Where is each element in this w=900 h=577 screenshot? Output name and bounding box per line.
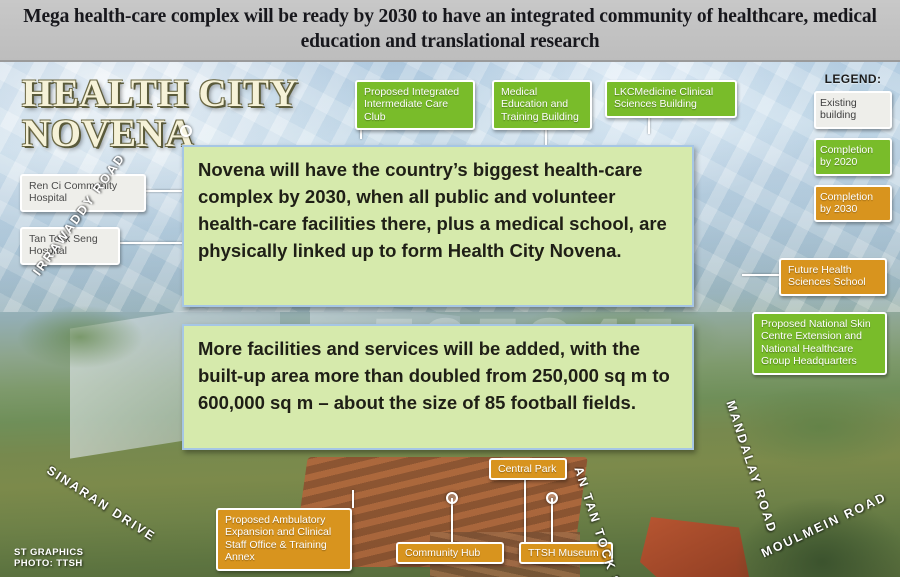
text-block-secondary-text: More facilities and services will be add… (198, 338, 670, 413)
text-block-primary-text: Novena will have the country’s biggest h… (198, 159, 667, 261)
leader-line-tan-tock-seng (118, 242, 188, 244)
road-label-mandalay: MANDALAY ROAD (723, 399, 779, 536)
credit-block: ST GRAPHICS PHOTO: TTSH (14, 547, 83, 569)
text-block-secondary: More facilities and services will be add… (182, 324, 694, 450)
infographic-page: Mega health-care complex will be ready b… (0, 0, 900, 577)
callout-lkc-medicine[interactable]: LKCMedicine Clinical Sciences Building (605, 80, 737, 118)
marker-dot-community-hub (446, 492, 458, 504)
rooftop-red (640, 517, 750, 577)
road-label-moulmein: MOULMEIN ROAD (759, 490, 889, 561)
page-title: HEALTH CITY NOVENA (22, 74, 352, 154)
legend-item-completion-2020[interactable]: Completion by 2020 (814, 138, 892, 176)
legend-title: LEGEND: (814, 72, 892, 86)
callout-medical-education[interactable]: Medical Education and Training Building (492, 80, 592, 130)
legend: LEGEND: Existing building Completion by … (814, 72, 892, 231)
aerial-map: 595845 HEALTH CITY NOVENA Proposed Integ… (0, 62, 900, 577)
marker-dot-intermediate-care (180, 125, 192, 137)
leader-line-ambulatory (352, 490, 354, 508)
callout-community-hub[interactable]: Community Hub (396, 542, 504, 564)
callout-central-park[interactable]: Central Park (489, 458, 567, 480)
headline-bar: Mega health-care complex will be ready b… (0, 0, 900, 62)
leader-line-future-health-school (742, 274, 784, 276)
legend-item-completion-2030[interactable]: Completion by 2030 (814, 185, 892, 223)
road-label-sinaran: SINARAN DRIVE (44, 463, 158, 544)
marker-dot-ttsh-museum (546, 492, 558, 504)
leader-line-central-park (524, 476, 526, 548)
credit-line-graphics: ST GRAPHICS (14, 547, 83, 558)
callout-intermediate-care[interactable]: Proposed Integrated Intermediate Care Cl… (355, 80, 475, 130)
leader-line-community-hub (451, 498, 453, 542)
callout-skin-centre[interactable]: Proposed National Skin Centre Extension … (752, 312, 887, 375)
leader-line-ttsh-museum (551, 498, 553, 542)
text-block-primary: Novena will have the country’s biggest h… (182, 145, 694, 307)
legend-item-existing-building[interactable]: Existing building (814, 91, 892, 129)
headline-text: Mega health-care complex will be ready b… (14, 4, 886, 54)
credit-line-photo: PHOTO: TTSH (14, 558, 83, 569)
callout-future-health-school[interactable]: Future Health Sciences School (779, 258, 887, 296)
callout-ambulatory[interactable]: Proposed Ambulatory Expansion and Clinic… (216, 508, 352, 571)
